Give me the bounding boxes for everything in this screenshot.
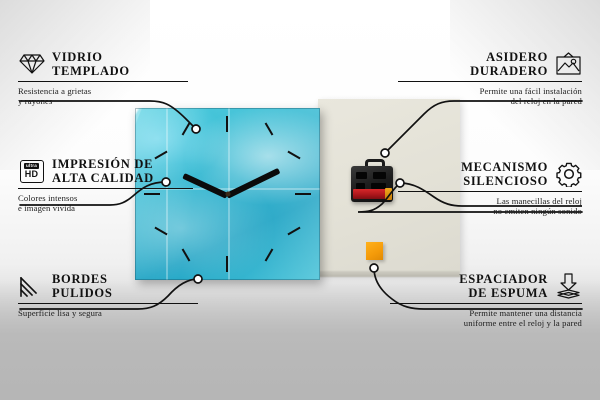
infographic-canvas: VIDRIO TEMPLADO Resistencia a grietas y … — [0, 0, 600, 400]
ultra-hd-icon-top-label: ultra — [24, 163, 39, 169]
feature-impresion-alta-calidad: ultra HD IMPRESIÓN DE ALTA CALIDAD Color… — [18, 157, 193, 214]
foam-spacer-icon — [555, 273, 582, 300]
feature-bordes-pulidos: BORDES PULIDOS Superficie lisa y segura — [18, 272, 198, 318]
feature-title-mecanismo: MECANISMO SILENCIOSO — [461, 160, 548, 188]
feature-desc-impresion-1: Colores intensos — [18, 193, 193, 203]
feature-divider — [390, 303, 582, 304]
feature-title-bordes: BORDES PULIDOS — [52, 272, 112, 300]
feature-mecanismo-silencioso: MECANISMO SILENCIOSO Las manecillas del … — [398, 160, 582, 217]
feature-asidero-duradero: ASIDERO DURADERO Permite una fácil insta… — [398, 50, 582, 107]
feature-desc-mecanismo-2: no emiten ningún sonido — [398, 206, 582, 216]
feature-espaciador-de-espuma: ESPACIADOR DE ESPUMA Permite mantener un… — [390, 272, 582, 329]
diamond-icon — [18, 51, 45, 78]
feature-title-asidero: ASIDERO DURADERO — [470, 50, 548, 78]
feature-desc-mecanismo-1: Las manecillas del reloj — [398, 196, 582, 206]
feature-title-vidrio: VIDRIO TEMPLADO — [52, 50, 130, 78]
ultra-hd-icon-bottom-label: HD — [25, 170, 38, 179]
feature-desc-vidrio-2: y rayones — [18, 96, 188, 106]
picture-hanger-icon — [555, 51, 582, 78]
feature-desc-impresion-2: e imagen vívida — [18, 203, 193, 213]
connector-dot-vidrio — [192, 125, 200, 133]
feature-divider — [398, 81, 582, 82]
gear-icon — [555, 161, 582, 188]
feature-desc-espaciador-1: Permite mantener una distancia — [390, 308, 582, 318]
feature-title-impresion: IMPRESIÓN DE ALTA CALIDAD — [52, 157, 154, 185]
feature-divider — [18, 303, 198, 304]
feature-desc-vidrio-1: Resistencia a grietas — [18, 86, 188, 96]
feature-desc-asidero-2: del reloj en la pared — [398, 96, 582, 106]
feature-divider — [18, 81, 188, 82]
ultra-hd-icon: ultra HD — [18, 158, 45, 185]
feature-desc-bordes-1: Superficie lisa y segura — [18, 308, 198, 318]
connector-dot-espaciador — [370, 264, 378, 272]
feature-desc-asidero-1: Permite una fácil instalación — [398, 86, 582, 96]
feature-divider — [18, 188, 193, 189]
connector-line-asidero — [385, 101, 582, 153]
feature-desc-espaciador-2: uniforme entre el reloj y la pared — [390, 318, 582, 328]
feature-title-espaciador: ESPACIADOR DE ESPUMA — [459, 272, 548, 300]
feature-divider — [398, 191, 582, 192]
feature-vidrio-templado: VIDRIO TEMPLADO Resistencia a grietas y … — [18, 50, 188, 107]
connector-dot-asidero — [381, 149, 389, 157]
diagonal-lines-icon — [18, 273, 45, 300]
